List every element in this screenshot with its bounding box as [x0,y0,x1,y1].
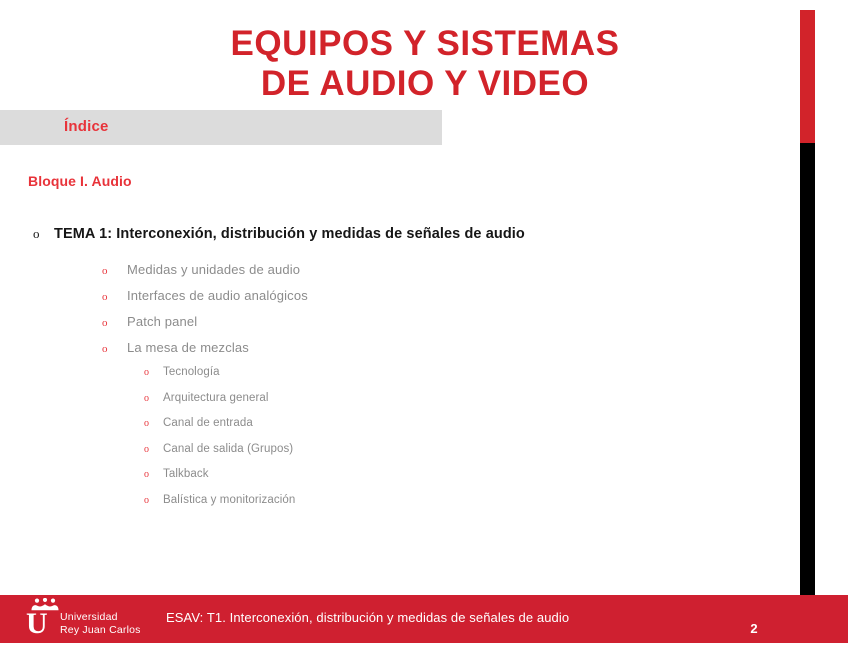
outline-item-label: TEMA 1: Interconexión, distribución y me… [54,226,525,242]
urjc-logo: U Universidad Rey Juan Carlos [12,597,142,641]
right-rail-black [800,143,815,600]
outline-item-level2: oLa mesa de mezclas [0,340,790,366]
bullet-icon: o [144,393,163,404]
outline-item-level2: oInterfaces de audio analógicos [0,288,790,314]
outline-item-label: Arquitectura general [163,392,269,404]
outline-item-label: Talkback [163,468,209,480]
block-title: Bloque I. Audio [28,173,132,189]
bullet-icon: o [144,367,163,378]
outline-list: oTEMA 1: Interconexión, distribución y m… [0,226,790,519]
title-line-1: EQUIPOS Y SISTEMAS [60,24,790,64]
outline-item-level3: oTalkback [0,468,790,494]
bullet-icon: o [102,291,127,303]
outline-item-level3: oCanal de salida (Grupos) [0,443,790,469]
slide-canvas: EQUIPOS Y SISTEMAS DE AUDIO Y VIDEO Índi… [0,0,848,655]
bullet-icon: o [102,265,127,277]
bullet-icon: o [144,495,163,506]
footer-course-text: ESAV: T1. Interconexión, distribución y … [166,610,569,625]
outline-item-label: Medidas y unidades de audio [127,262,300,277]
logo-wordmark-line2: Rey Juan Carlos [60,624,141,637]
bullet-icon: o [144,444,163,455]
logo-wordmark: Universidad Rey Juan Carlos [60,611,141,637]
section-header-label: Índice [64,118,109,135]
bullet-icon: o [102,317,127,329]
outline-item-level3: oTecnología [0,366,790,392]
bullet-icon: o [144,418,163,429]
outline-item-label: Patch panel [127,314,197,329]
title-line-2: DE AUDIO Y VIDEO [60,64,790,104]
outline-item-level2: oMedidas y unidades de audio [0,262,790,288]
outline-item-level3: oCanal de entrada [0,417,790,443]
slide-title: EQUIPOS Y SISTEMAS DE AUDIO Y VIDEO [60,24,790,104]
logo-wordmark-line1: Universidad [60,611,141,624]
outline-item-label: Balística y monitorización [163,494,295,506]
outline-item-label: Canal de entrada [163,417,253,429]
outline-item-label: Tecnología [163,366,220,378]
bullet-icon: o [33,226,54,242]
outline-item-level1: oTEMA 1: Interconexión, distribución y m… [0,226,790,262]
outline-item-level3: oBalística y monitorización [0,494,790,520]
logo-letter-u: U [26,609,48,639]
right-rail-red [800,10,815,143]
bullet-icon: o [144,469,163,480]
outline-item-label: La mesa de mezclas [127,340,249,355]
bullet-icon: o [102,343,127,355]
page-number: 2 [740,621,768,636]
outline-item-level2: oPatch panel [0,314,790,340]
outline-item-label: Canal de salida (Grupos) [163,443,293,455]
outline-item-label: Interfaces de audio analógicos [127,288,308,303]
outline-item-level3: oArquitectura general [0,392,790,418]
